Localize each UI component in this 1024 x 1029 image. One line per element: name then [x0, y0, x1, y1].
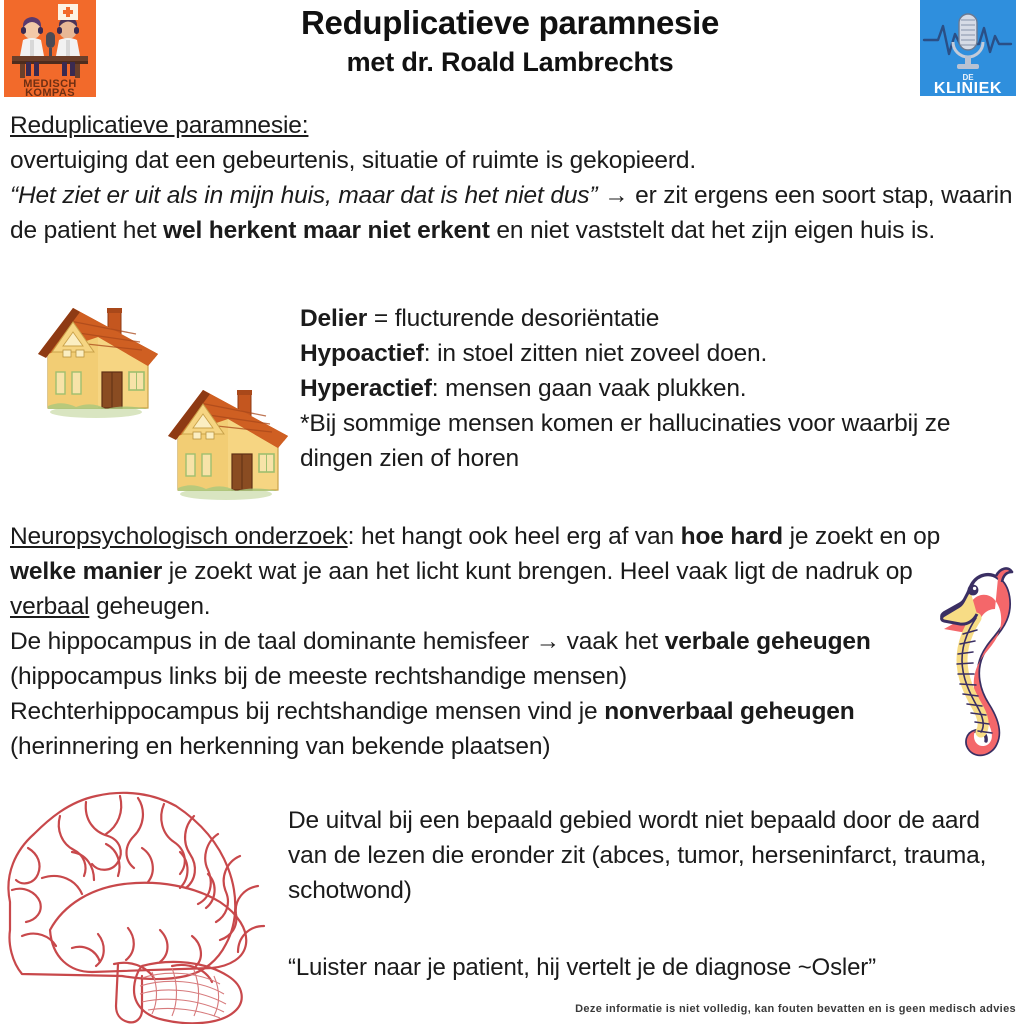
- medisch-kompas-logo-art: MEDISCH KOMPAS: [4, 0, 96, 97]
- medisch-kompas-logo: MEDISCH KOMPAS MEDISCH KOMPAS: [4, 0, 96, 97]
- neuro-underline-verbaal: verbaal: [10, 593, 89, 620]
- seahorse-illustration: [940, 560, 1020, 775]
- neuro-bold-verbale-geheugen: verbale geheugen: [665, 628, 871, 655]
- neuro-seg7: (hippocampus links bij de meeste rechtsh…: [10, 663, 627, 690]
- hyperactief-definition: : mensen gaan vaak plukken.: [432, 375, 747, 402]
- neuro-bold-welke-manier: welke manier: [10, 558, 162, 585]
- de-kliniek-logo-art: DE KLINIEK: [920, 0, 1016, 96]
- brain-icon: [2, 786, 274, 1024]
- uitval-paragraph: De uitval bij een bepaald gebied wordt n…: [288, 803, 988, 908]
- definition-paragraph: Reduplicatieve paramnesie:overtuiging da…: [10, 108, 1016, 248]
- svg-text:KLINIEK: KLINIEK: [934, 80, 1002, 96]
- hypoactief-label: Hypoactief: [300, 340, 424, 367]
- hyperactief-label: Hyperactief: [300, 375, 432, 402]
- page-subtitle: met dr. Roald Lambrechts: [110, 44, 910, 80]
- neuro-seg8: Rechterhippocampus bij rechtshandige men…: [10, 698, 598, 725]
- uitval-text: De uitval bij een bepaald gebied wordt n…: [288, 807, 986, 904]
- neuro-seg4: geheugen.: [96, 593, 210, 620]
- neuro-seg9: (herinnering en herkenning van bekende p…: [10, 733, 550, 760]
- brain-illustration: [2, 786, 274, 1024]
- svg-text:KOMPAS: KOMPAS: [25, 87, 75, 97]
- arrow-icon-neuro: →: [536, 628, 560, 655]
- definition-heading: Reduplicatieve paramnesie:: [10, 112, 308, 139]
- house-illustration: [30, 288, 163, 421]
- page-title: Reduplicatieve paramnesie: [110, 2, 910, 44]
- hypoactief-definition: : in stoel zitten niet zoveel doen.: [424, 340, 767, 367]
- neuropsychologisch-paragraph: Neuropsychologisch onderzoek: het hangt …: [10, 519, 950, 764]
- house-icon-duplicate: [160, 370, 293, 503]
- delier-definition: = flucturende desoriëntatie: [374, 305, 659, 332]
- definition-quote: “Het ziet er uit als in mijn huis, maar …: [10, 182, 597, 209]
- definition-plain-line: overtuiging dat een gebeurtenis, situati…: [10, 147, 696, 174]
- definition-bold-phrase: wel herkent maar niet erkent: [163, 217, 490, 244]
- disclaimer-text: Deze informatie is niet volledig, kan fo…: [524, 1003, 1016, 1015]
- delier-paragraph: Delier = flucturende desoriëntatieHypoac…: [300, 301, 1000, 476]
- neuro-seg5: De hippocampus in de taal dominante hemi…: [10, 628, 529, 655]
- osler-quote-text: “Luister naar je patient, hij vertelt je…: [288, 954, 876, 981]
- delier-label: Delier: [300, 305, 367, 332]
- neuro-seg2: je zoekt en op: [790, 523, 940, 550]
- definition-tail: en niet vaststelt dat het zijn eigen hui…: [496, 217, 935, 244]
- osler-quote: “Luister naar je patient, hij vertelt je…: [288, 950, 1024, 985]
- arrow-icon: →: [604, 182, 628, 209]
- neuro-heading: Neuropsychologisch onderzoek: [10, 523, 348, 550]
- neuro-seg1: : het hangt ook heel erg af van: [348, 523, 674, 550]
- hallucinaties-note: *Bij sommige mensen komen er hallucinati…: [300, 410, 950, 472]
- seahorse-icon: [940, 560, 1020, 775]
- de-kliniek-logo: DE KLINIEK DE KLINIEK: [920, 0, 1016, 96]
- neuro-bold-nonverbaal-geheugen: nonverbaal geheugen: [604, 698, 854, 725]
- title-block: Reduplicatieve paramnesie met dr. Roald …: [110, 2, 910, 80]
- neuro-bold-hoe-hard: hoe hard: [681, 523, 783, 550]
- page-header: MEDISCH KOMPAS MEDISCH KOMPAS Reduplicat…: [0, 0, 1024, 100]
- neuro-seg6: vaak het: [567, 628, 658, 655]
- house-icon: [30, 288, 163, 421]
- neuro-seg3: je zoekt wat je aan het licht kunt breng…: [169, 558, 913, 585]
- house-illustration-duplicate: [160, 370, 293, 503]
